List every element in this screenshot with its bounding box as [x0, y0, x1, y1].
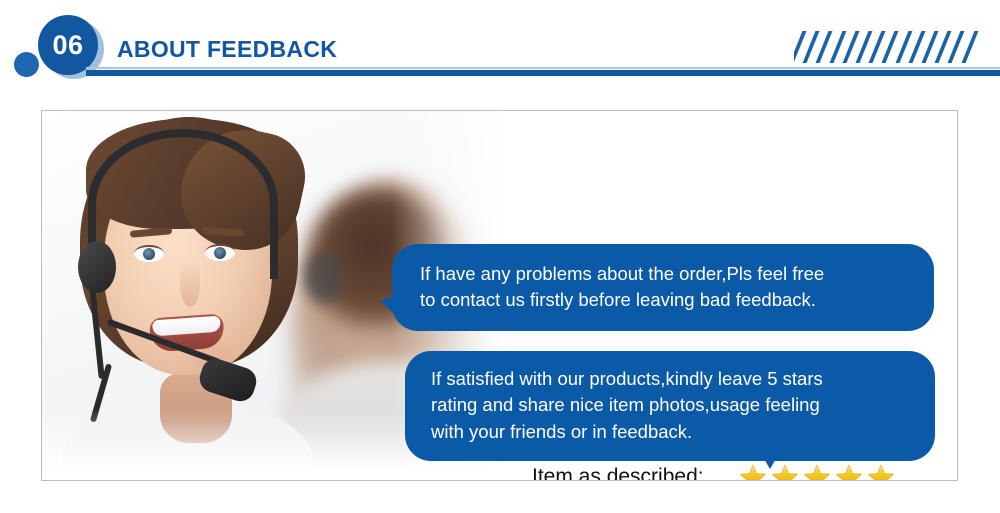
section-number-label: 06 — [52, 32, 83, 59]
speech-bubble-1-text: If have any problems about the order,Pls… — [420, 261, 912, 314]
speech-bubble-1: If have any problems about the order,Pls… — [392, 244, 934, 331]
header-rule-bold — [86, 70, 1000, 76]
star-icon — [802, 463, 832, 482]
section-number-badge: 06 — [38, 15, 98, 75]
feedback-panel: If have any problems about the order,Pls… — [41, 110, 958, 481]
background-person-headset — [304, 251, 344, 303]
speech-bubble-2-text: If satisfied with our products,kindly le… — [431, 366, 915, 445]
rating-stars — [738, 463, 896, 482]
ratings-list: Item as described:Communication:Shipping… — [532, 456, 958, 481]
rating-label: Item as described: — [532, 465, 730, 481]
headset-earcup-icon — [78, 241, 116, 293]
star-icon — [738, 463, 768, 482]
header-accent-dot — [14, 52, 39, 77]
rating-row: Item as described: — [532, 456, 958, 481]
section-header: 06 ABOUT FEEDBACK — [0, 0, 1000, 95]
header-rule-light — [86, 67, 1000, 69]
feedback-banner: 06 ABOUT FEEDBACK — [0, 0, 1000, 513]
stripe-14 — [961, 31, 978, 63]
star-icon — [866, 463, 896, 482]
star-icon — [834, 463, 864, 482]
agent-teeth — [152, 316, 221, 337]
diagonal-stripes-decoration — [794, 31, 980, 63]
page-title: ABOUT FEEDBACK — [117, 36, 337, 63]
headset-headband-icon — [88, 129, 278, 279]
speech-bubble-2: If satisfied with our products,kindly le… — [405, 351, 935, 461]
star-icon — [770, 463, 800, 482]
